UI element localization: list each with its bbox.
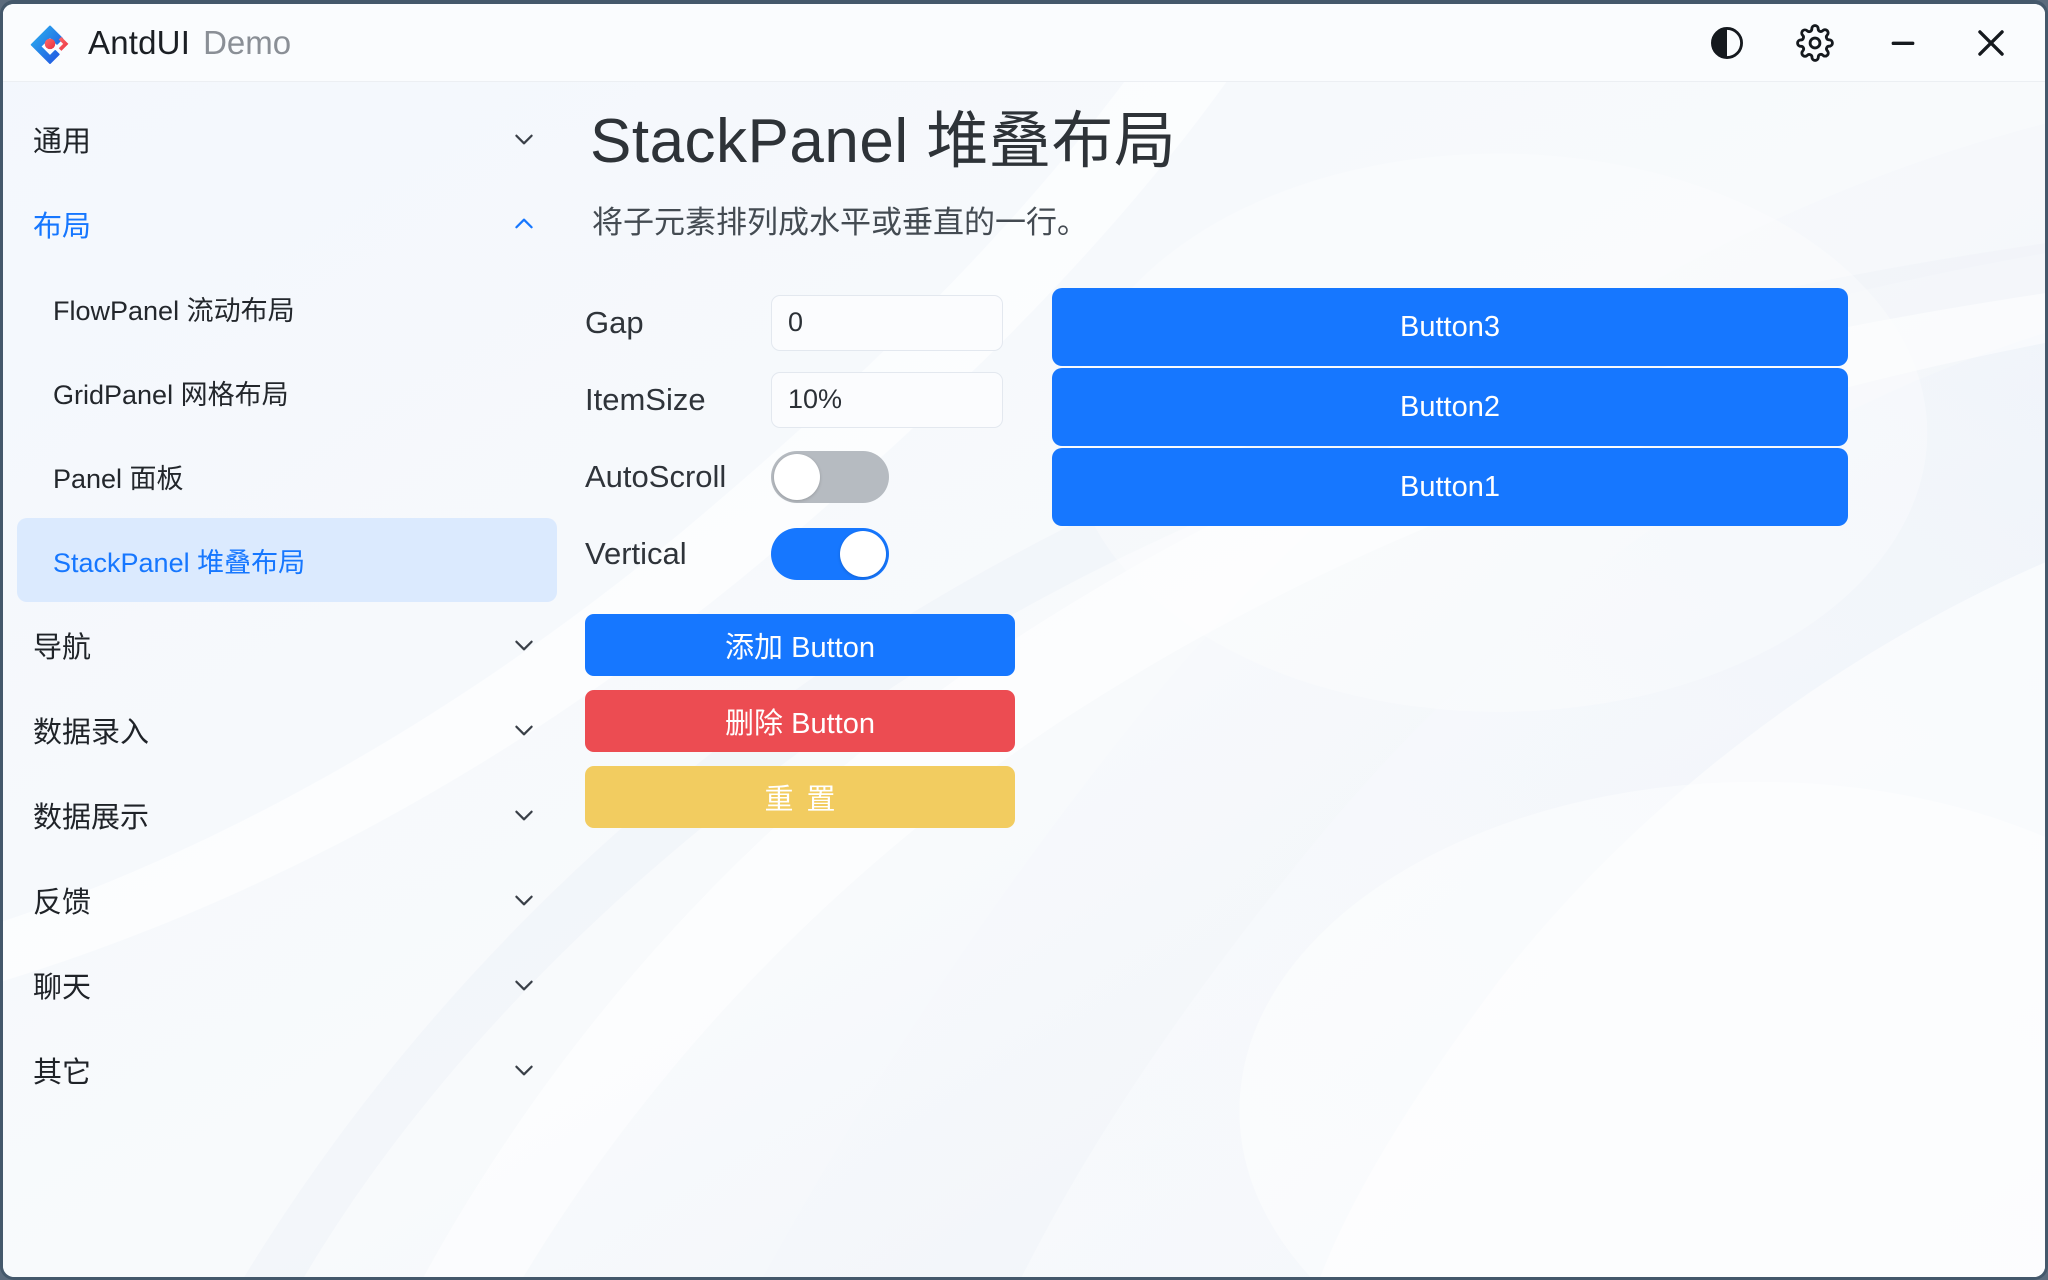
- autoscroll-label: AutoScroll: [585, 459, 771, 495]
- sidebar-group-layout[interactable]: 布局: [3, 181, 571, 266]
- theme-toggle-icon: [1708, 24, 1746, 62]
- sidebar-group-chat[interactable]: 聊天: [3, 942, 571, 1027]
- sidebar-item-stackpanel[interactable]: StackPanel 堆叠布局: [17, 518, 557, 602]
- close-button[interactable]: [1947, 12, 2035, 74]
- gap-label: Gap: [585, 305, 771, 341]
- chevron-down-icon: [511, 972, 537, 998]
- sidebar-group-navigation[interactable]: 导航: [3, 602, 571, 687]
- minimize-button[interactable]: [1859, 12, 1947, 74]
- field-row-vertical: Vertical: [585, 515, 1025, 592]
- stack-button-2[interactable]: Button2: [1052, 368, 1848, 446]
- autoscroll-toggle[interactable]: [771, 451, 889, 503]
- config-panel: Gap 0 ItemSize 10% AutoScroll: [585, 284, 1025, 842]
- page-description: 将子元素排列成水平或垂直的一行。: [592, 197, 2045, 242]
- stack-button-1[interactable]: Button1: [1052, 448, 1848, 526]
- field-row-itemsize: ItemSize 10%: [585, 361, 1025, 438]
- minimize-icon: [1886, 26, 1920, 60]
- close-icon: [1972, 24, 2010, 62]
- page-title: StackPanel 堆叠布局: [590, 106, 2045, 177]
- toggle-knob: [774, 454, 820, 500]
- remove-button-button[interactable]: 删除 Button: [585, 690, 1015, 752]
- sidebar-group-label: 通用: [33, 118, 511, 160]
- title-bar: AntdUI Demo: [3, 4, 2045, 82]
- sidebar-nav: 通用 布局 FlowPanel 流动布局 GridPanel 网格布局 Pane…: [3, 82, 571, 1277]
- app-body: 通用 布局 FlowPanel 流动布局 GridPanel 网格布局 Pane…: [3, 82, 2045, 1277]
- chevron-down-icon: [511, 802, 537, 828]
- sidebar-group-others[interactable]: 其它: [3, 1027, 571, 1112]
- sidebar-group-label: 导航: [33, 624, 511, 666]
- reset-button[interactable]: 重置: [585, 766, 1015, 828]
- antdui-logo-icon: [29, 22, 71, 64]
- sidebar-group-label: 聊天: [33, 964, 511, 1006]
- theme-toggle-button[interactable]: [1683, 12, 1771, 74]
- gap-input[interactable]: 0: [771, 295, 1003, 351]
- sidebar-group-label: 其它: [33, 1049, 511, 1091]
- sidebar-group-feedback[interactable]: 反馈: [3, 857, 571, 942]
- chevron-down-icon: [511, 126, 537, 152]
- chevron-up-icon: [511, 211, 537, 237]
- add-button-button[interactable]: 添加 Button: [585, 614, 1015, 676]
- sidebar-group-label: 数据展示: [33, 794, 511, 836]
- sidebar-item-panel[interactable]: Panel 面板: [17, 434, 557, 518]
- sidebar-group-general[interactable]: 通用: [3, 96, 571, 181]
- main-content: StackPanel 堆叠布局 将子元素排列成水平或垂直的一行。 Gap 0 I…: [571, 82, 2045, 1277]
- demo-area: Gap 0 ItemSize 10% AutoScroll: [585, 284, 2045, 842]
- sidebar-group-data-display[interactable]: 数据展示: [3, 772, 571, 857]
- settings-gear-icon: [1796, 24, 1834, 62]
- app-title: AntdUI: [88, 24, 190, 62]
- sidebar-group-label: 反馈: [33, 879, 511, 921]
- stackpanel-preview: Button3 Button2 Button1: [1052, 284, 1848, 528]
- itemsize-input[interactable]: 10%: [771, 372, 1003, 428]
- toggle-knob: [840, 531, 886, 577]
- vertical-toggle[interactable]: [771, 528, 889, 580]
- sidebar-item-gridpanel[interactable]: GridPanel 网格布局: [17, 350, 557, 434]
- chevron-down-icon: [511, 887, 537, 913]
- sidebar-group-label: 数据录入: [33, 709, 511, 751]
- field-row-gap: Gap 0: [585, 284, 1025, 361]
- vertical-label: Vertical: [585, 536, 771, 572]
- settings-button[interactable]: [1771, 12, 1859, 74]
- itemsize-label: ItemSize: [585, 382, 771, 418]
- chevron-down-icon: [511, 717, 537, 743]
- sidebar-group-data-entry[interactable]: 数据录入: [3, 687, 571, 772]
- sidebar-item-flowpanel[interactable]: FlowPanel 流动布局: [17, 266, 557, 350]
- chevron-down-icon: [511, 1057, 537, 1083]
- stack-button-3[interactable]: Button3: [1052, 288, 1848, 366]
- app-subtitle: Demo: [203, 24, 291, 62]
- chevron-down-icon: [511, 632, 537, 658]
- field-row-autoscroll: AutoScroll: [585, 438, 1025, 515]
- sidebar-group-label: 布局: [33, 203, 511, 245]
- app-window: AntdUI Demo: [0, 0, 2048, 1280]
